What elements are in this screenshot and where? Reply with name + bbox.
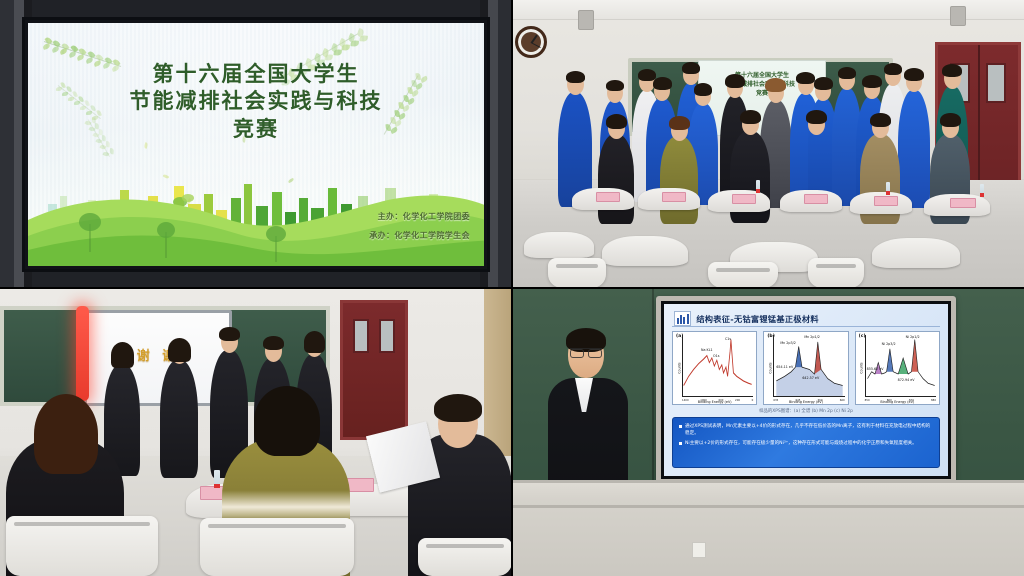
bullet-marker-icon [679, 442, 682, 445]
ppt-title-row: 结构表征-无钴富锂锰基正极材料 [674, 311, 819, 326]
room-door [340, 300, 408, 440]
water-glass [214, 470, 220, 488]
peak-label: 642.57 eV [802, 376, 819, 380]
door-window [379, 319, 395, 353]
nameplate [662, 192, 686, 202]
peak-label: Mn 2p3/2 [780, 341, 795, 345]
figure-caption: 样品的XPS图谱：(a) 全谱 (b) Mn 2p (c) Ni 2p [664, 408, 948, 414]
water-bottle [886, 182, 890, 195]
xps-chart-row: (a) Counts Na KL1 C1s O1s 1400 1000 [672, 331, 940, 405]
pane-group-photo: 第十六届全国大学生 节能减排社会实践与科技 竞赛 [512, 0, 1024, 288]
bullet-item: 通过XPS测试表明，Mn元素主要以+4价的形式存在，几乎不存在低价态的Mn离子，… [679, 423, 933, 437]
collage-seam-horizontal [0, 287, 1024, 289]
bullet-text: 通过XPS测试表明，Mn元素主要以+4价的形式存在，几乎不存在低价态的Mn离子，… [685, 423, 933, 437]
bar-chart-icon [674, 311, 691, 326]
door-window [986, 63, 1006, 103]
peak-label: 654.11 eV [776, 365, 793, 369]
nameplate [804, 194, 828, 204]
thank-you-text: 谢 谢 [87, 345, 229, 364]
bullet-item: Ni主要以+2价的形式存在，可能存在极少量的Ni³⁺，这种存在形式可能与煅烧过程… [679, 440, 933, 447]
chalk-tray-wall [512, 480, 1024, 576]
organizer-line: 主办：化学化工学院团委 [378, 211, 470, 222]
ppt-slide-title: 结构表征-无钴富锂锰基正极材料 [696, 313, 819, 325]
peak-label: Ni 2p1/2 [906, 335, 920, 339]
speaker-icon [578, 10, 594, 30]
door-window [353, 319, 369, 353]
laser-pointer-beam [76, 306, 89, 401]
peak-label: Ni 2p3/2 [882, 342, 896, 346]
peak-label: Mn 2p1/2 [804, 335, 819, 339]
x-axis-label: Binding Energy (eV) [673, 400, 756, 404]
slide-title-line2: 节能减排社会实践与科技 [28, 88, 484, 115]
conclusion-box: 通过XPS测试表明，Mn元素主要以+4价的形式存在，几乎不存在低价态的Mn离子，… [672, 417, 940, 468]
y-axis-label: Counts [860, 362, 864, 373]
slide-title-line1: 第十六届全国大学生 [28, 61, 484, 88]
speaker-icon [950, 6, 966, 26]
photo-collage: 第十六届全国大学生 节能减排社会实践与科技 竞赛 [0, 0, 1024, 576]
water-bottle [756, 180, 760, 193]
projection-screen: 第十六届全国大学生 节能减排社会实践与科技 竞赛 [28, 23, 484, 266]
peak-label: O1s [713, 354, 719, 358]
pane-team-defense: 谢 谢 [0, 288, 512, 576]
nameplate [596, 192, 620, 202]
smartboard: 结构表征-无钴富锂锰基正极材料 (a) Counts Na KL1 C1s [656, 296, 956, 484]
slide-title-block: 第十六届全国大学生 节能减排社会实践与科技 竞赛 [28, 61, 484, 143]
pane-presenter-slide: 结构表征-无钴富锂锰基正极材料 (a) Counts Na KL1 C1s [512, 288, 1024, 576]
pane-title-slide: 第十六届全国大学生 节能减排社会实践与科技 竞赛 [0, 0, 512, 288]
nameplate [950, 198, 976, 208]
title-underline [672, 326, 940, 327]
nameplate [732, 194, 756, 204]
nameplate [874, 196, 898, 206]
co-organizer-line: 承办：化学化工学院学生会 [369, 230, 470, 241]
y-axis-label: Counts [768, 362, 772, 373]
bullet-text: Ni主要以+2价的形式存在，可能存在极少量的Ni³⁺，这种存在形式可能与煅烧过程… [685, 440, 917, 447]
chart-panel-c: (c) Counts Ni 2p3/2 Ni 2p1/2 [855, 331, 940, 405]
x-axis-label: Binding Energy (eV) [764, 400, 847, 404]
chart-panel-b: (b) Counts Mn 2p3/2 Mn 2p1/2 654.11 eV [763, 331, 848, 405]
smartboard-screen: 结构表征-无钴富锂锰基正极材料 (a) Counts Na KL1 C1s [661, 301, 951, 479]
peak-label: 855.67 eV [867, 367, 884, 371]
wall-clock [515, 26, 547, 58]
slide-title-line3: 竞赛 [28, 116, 484, 143]
water-bottle [980, 184, 984, 197]
peak-label: C1s [725, 337, 731, 341]
chart-panel-a: (a) Counts Na KL1 C1s O1s 1400 1000 [672, 331, 757, 405]
peak-label: Na KL1 [701, 348, 713, 352]
bullet-marker-icon [679, 425, 682, 428]
ppt-slide: 结构表征-无钴富锂锰基正极材料 (a) Counts Na KL1 C1s [664, 304, 948, 476]
y-axis-label: Counts [677, 362, 681, 373]
peak-label: 872.94 eV [898, 378, 915, 382]
glasses-icon [570, 348, 602, 355]
wall-socket [692, 542, 706, 558]
projector-bezel: 第十六届全国大学生 节能减排社会实践与科技 竞赛 [22, 17, 490, 272]
x-axis-label: Binding Energy (eV) [856, 400, 939, 404]
